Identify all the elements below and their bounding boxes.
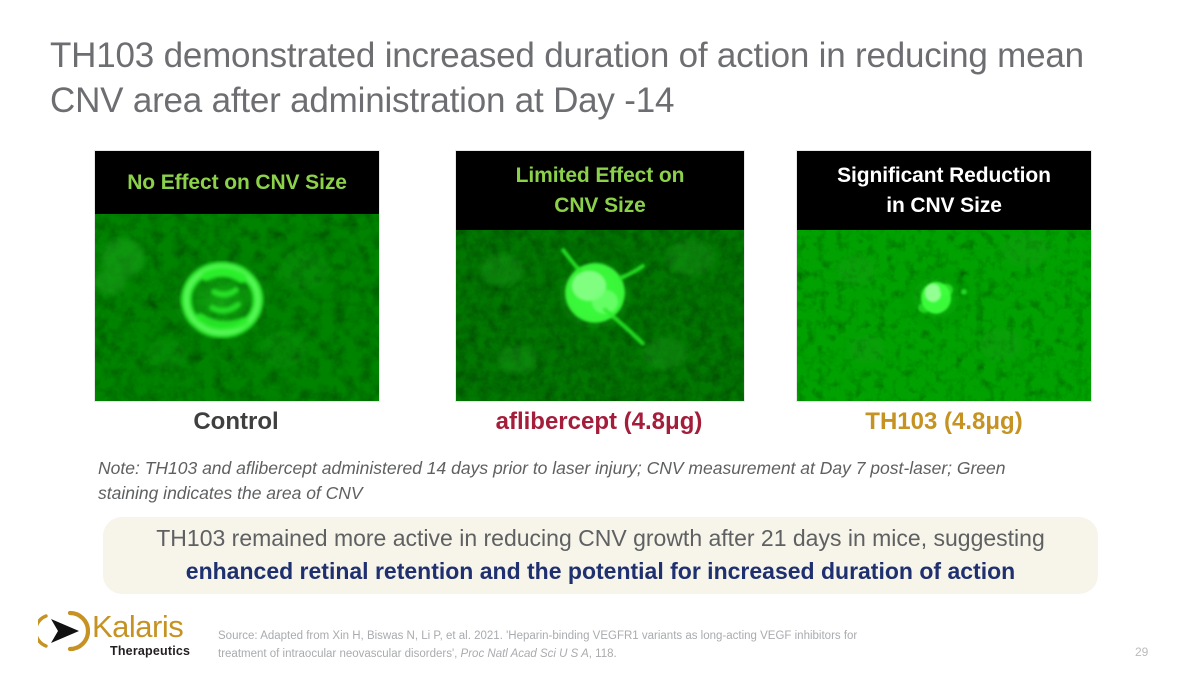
kalaris-logo-wordmark: Kalaris <box>92 609 183 645</box>
panel-captions: Control aflibercept (4.8μg) TH103 (4.8μg… <box>94 408 1092 444</box>
kalaris-logo: Kalaris Therapeutics <box>38 607 218 662</box>
source-citation: Source: Adapted from Xin H, Biswas N, Li… <box>218 628 858 664</box>
page-number: 29 <box>1135 645 1148 659</box>
panel-band-th103-line2: in CNV Size <box>803 191 1085 221</box>
caption-aflibercept: aflibercept (4.8μg) <box>443 408 755 436</box>
panel-band-control: No Effect on CNV Size <box>95 151 379 214</box>
note-text: Note: TH103 and aflibercept administered… <box>98 456 1058 506</box>
callout-line-1: TH103 remained more active in reducing C… <box>156 524 1045 554</box>
panel-control: No Effect on CNV Size <box>94 150 380 402</box>
panel-aflibercept: Limited Effect on CNV Size <box>455 150 745 402</box>
caption-th103: TH103 (4.8μg) <box>786 408 1102 436</box>
panel-row: No Effect on CNV Size <box>94 150 1092 402</box>
panel-th103: Significant Reduction in CNV Size <box>796 150 1092 402</box>
callout-line-2: enhanced retinal retention and the poten… <box>186 557 1015 587</box>
slide: TH103 demonstrated increased duration of… <box>0 0 1200 675</box>
source-text-part2: , 118. <box>589 648 617 660</box>
panel-band-th103-line1: Significant Reduction <box>803 161 1085 191</box>
panel-band-aflibercept-line1: Limited Effect on <box>462 161 738 191</box>
kalaris-logo-subtitle: Therapeutics <box>110 644 190 658</box>
source-journal-name: Proc Natl Acad Sci U S A <box>461 648 589 660</box>
kalaris-logo-mark-icon <box>38 609 90 653</box>
key-takeaway-callout: TH103 remained more active in reducing C… <box>103 517 1098 594</box>
panel-band-aflibercept: Limited Effect on CNV Size <box>456 151 744 230</box>
page-title: TH103 demonstrated increased duration of… <box>50 34 1115 124</box>
caption-control: Control <box>86 408 386 436</box>
panel-band-aflibercept-line2: CNV Size <box>462 191 738 221</box>
panel-band-th103: Significant Reduction in CNV Size <box>797 151 1091 230</box>
